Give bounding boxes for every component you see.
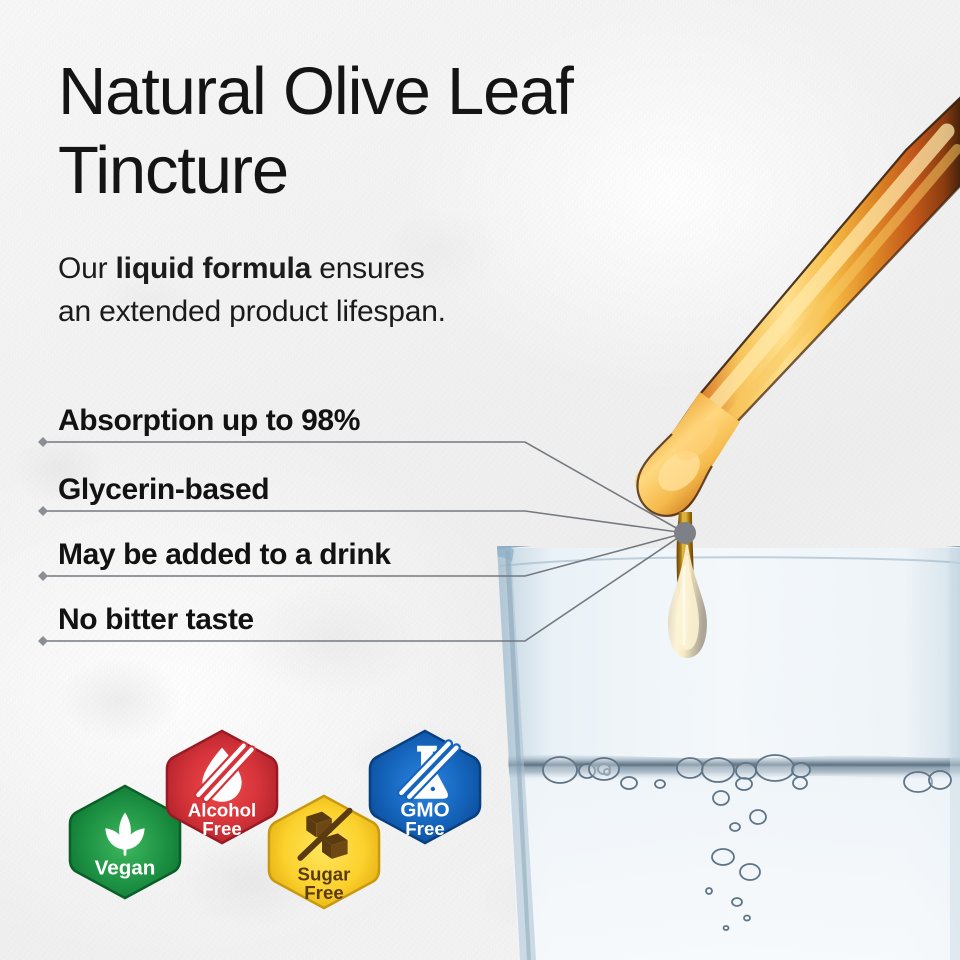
subtitle-highlight: liquid formula [116, 252, 312, 285]
title-line-1: Natural Olive Leaf [58, 54, 573, 129]
badge-label-sugar-2: Free [304, 882, 343, 903]
page-title: Natural Olive Leaf Tincture [58, 52, 708, 210]
badge-alcohol-free: Alcohol Free [163, 728, 281, 846]
feature-label-drink: May be added to a drink [58, 538, 391, 572]
badge-gmo-free: GMO Free [366, 728, 484, 846]
product-infographic: Natural Olive Leaf Tincture Our liquid f… [0, 0, 960, 960]
page-subtitle: Our liquid formula ensures an extended p… [58, 248, 578, 333]
badge-label-vegan: Vegan [95, 856, 156, 879]
badge-label-gmo-2: Free [405, 818, 444, 839]
badge-label-alcohol-2: Free [202, 818, 241, 839]
feature-label-glycerin: Glycerin-based [58, 473, 269, 507]
title-line-2: Tincture [58, 133, 288, 208]
feature-label-taste: No bitter taste [58, 603, 254, 637]
subtitle-line-2: an extended product lifespan. [58, 295, 446, 328]
subtitle-pre: Our [58, 252, 116, 285]
feature-label-absorption: Absorption up to 98% [58, 404, 360, 438]
subtitle-post: ensures [311, 252, 424, 285]
